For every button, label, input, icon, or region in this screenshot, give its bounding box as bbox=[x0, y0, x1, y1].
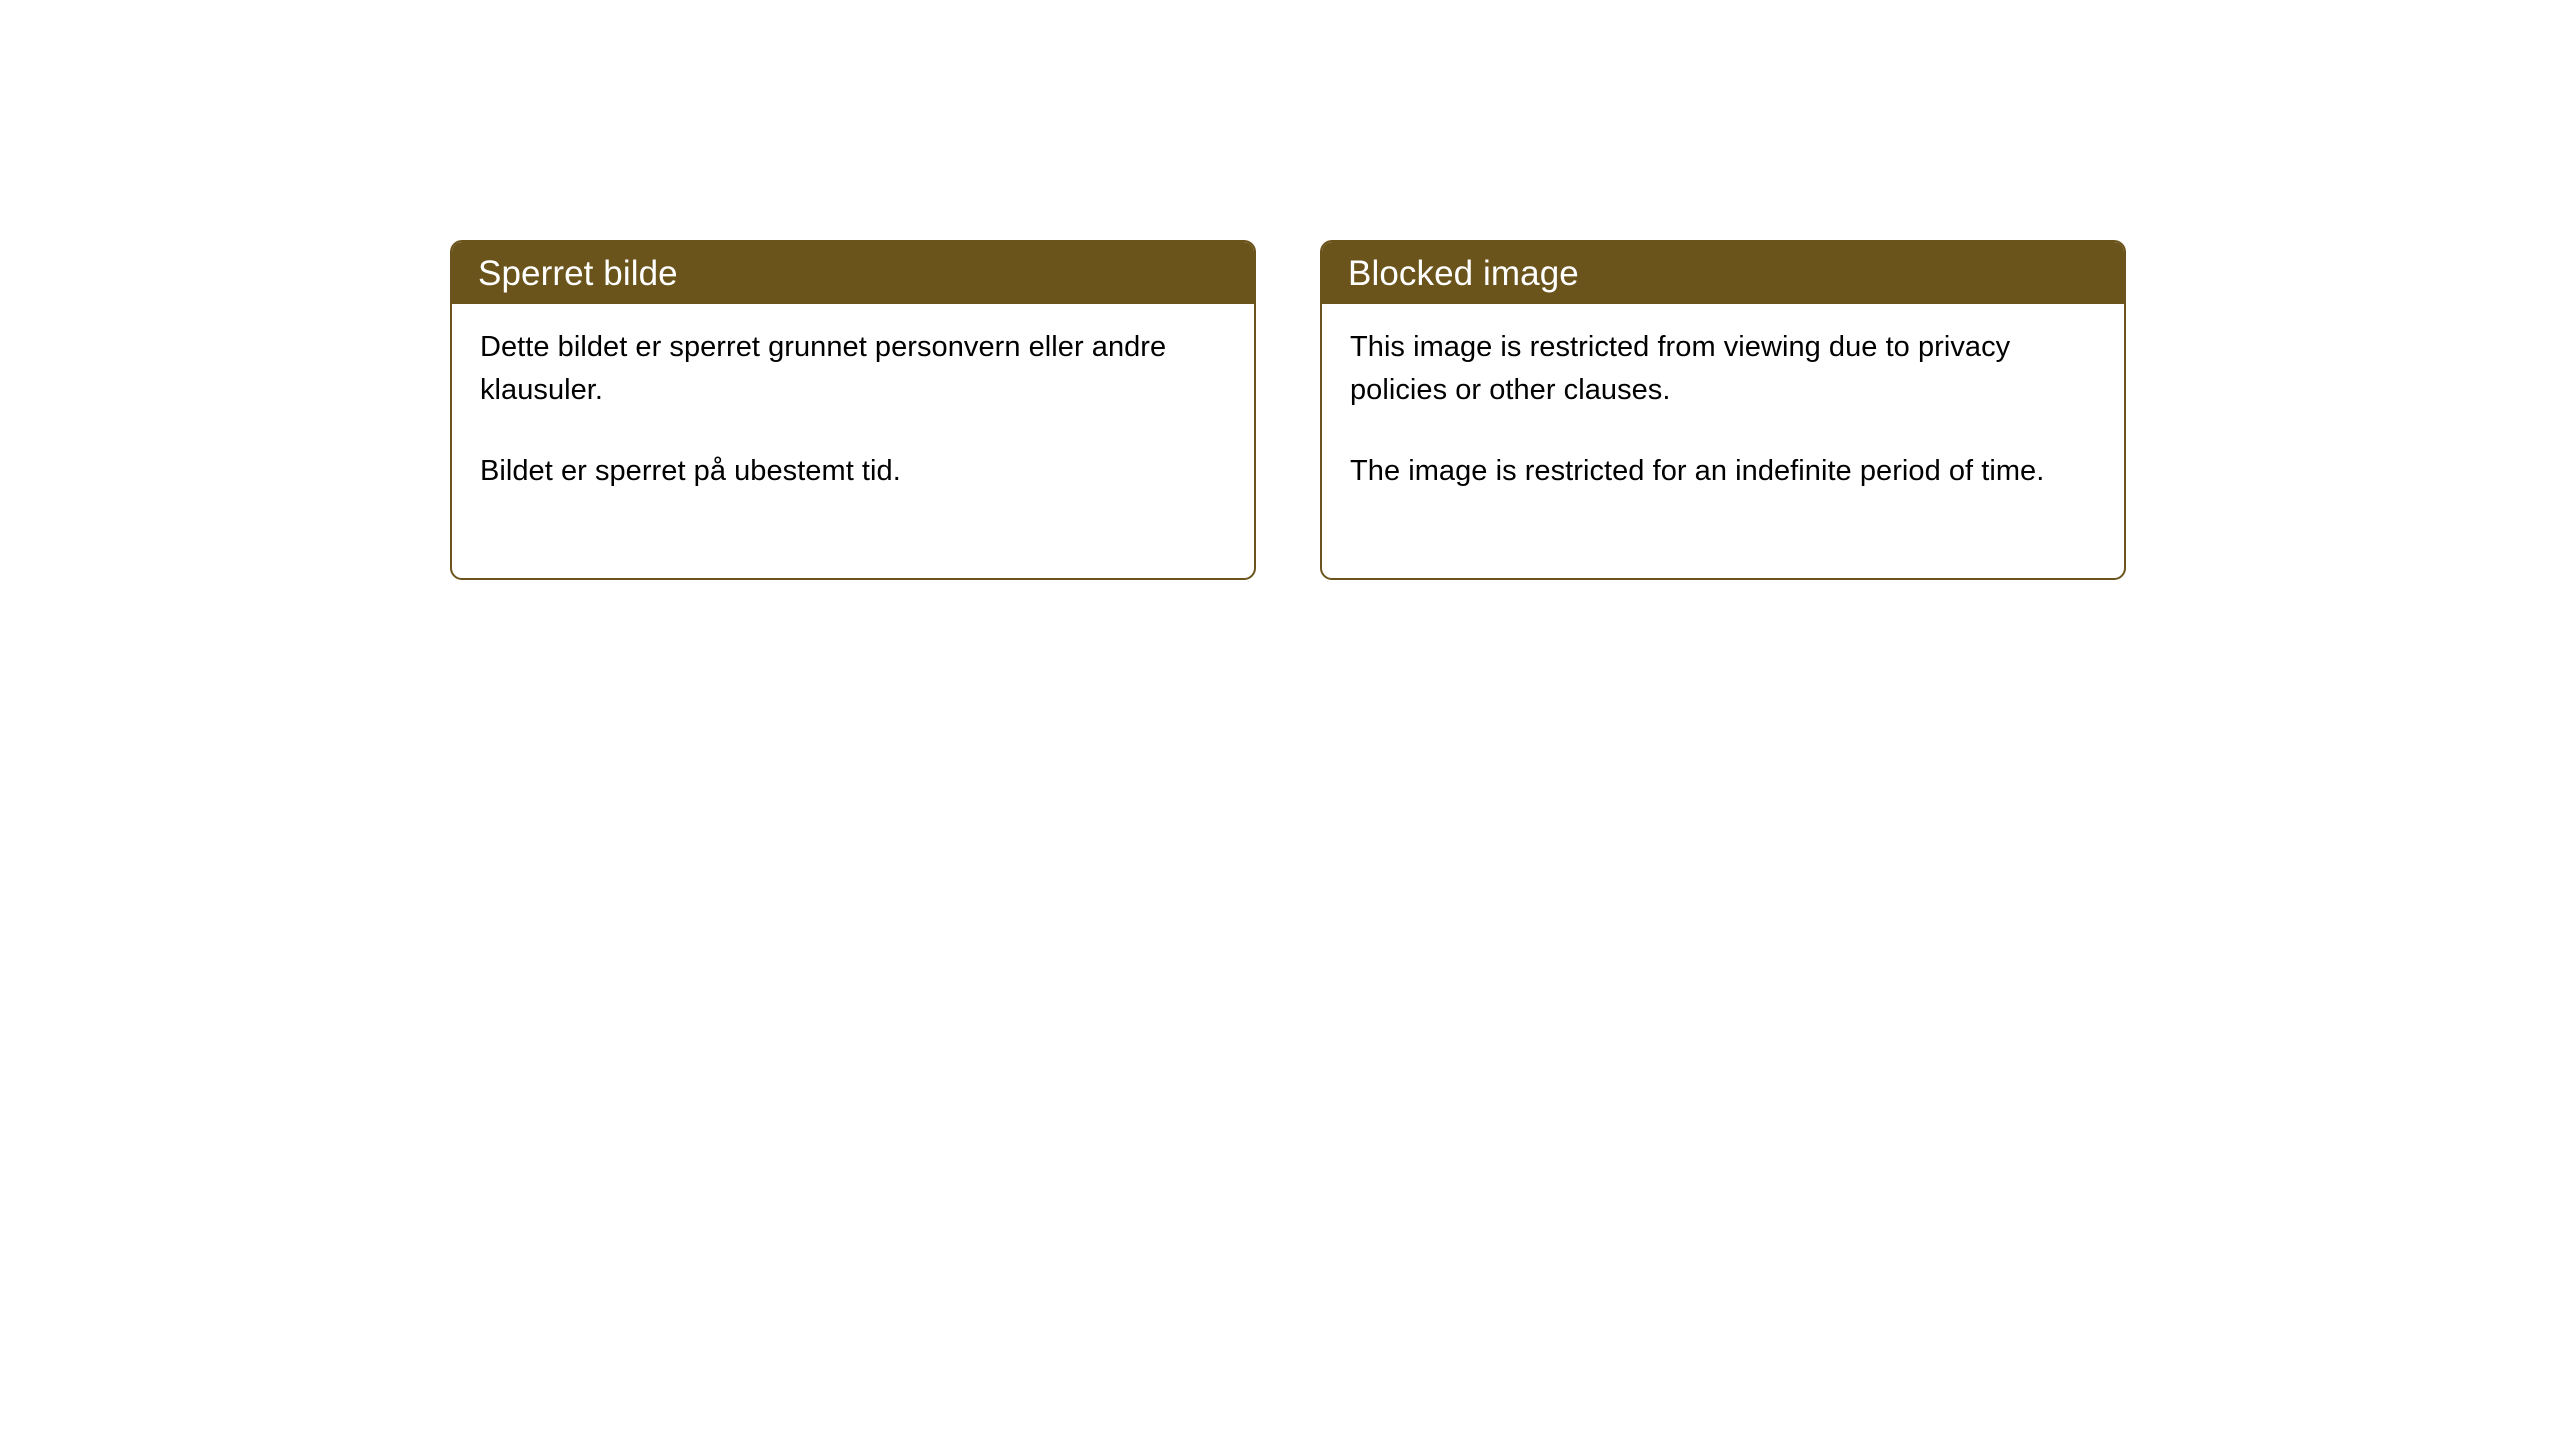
card-title-english: Blocked image bbox=[1348, 256, 1579, 291]
card-paragraph-secondary-english: The image is restricted for an indefinit… bbox=[1350, 450, 2094, 493]
card-paragraph-primary-norwegian: Dette bildet er sperret grunnet personve… bbox=[480, 326, 1224, 412]
card-paragraph-secondary-norwegian: Bildet er sperret på ubestemt tid. bbox=[480, 450, 1224, 493]
card-header-english: Blocked image bbox=[1322, 242, 2124, 304]
blocked-image-notice-card-english: Blocked image This image is restricted f… bbox=[1320, 240, 2126, 580]
card-body-norwegian: Dette bildet er sperret grunnet personve… bbox=[452, 304, 1254, 493]
card-body-english: This image is restricted from viewing du… bbox=[1322, 304, 2124, 493]
blocked-image-notice-card-norwegian: Sperret bilde Dette bildet er sperret gr… bbox=[450, 240, 1256, 580]
page-canvas: Sperret bilde Dette bildet er sperret gr… bbox=[0, 0, 2560, 1440]
card-title-norwegian: Sperret bilde bbox=[478, 256, 678, 291]
card-header-norwegian: Sperret bilde bbox=[452, 242, 1254, 304]
card-paragraph-primary-english: This image is restricted from viewing du… bbox=[1350, 326, 2094, 412]
